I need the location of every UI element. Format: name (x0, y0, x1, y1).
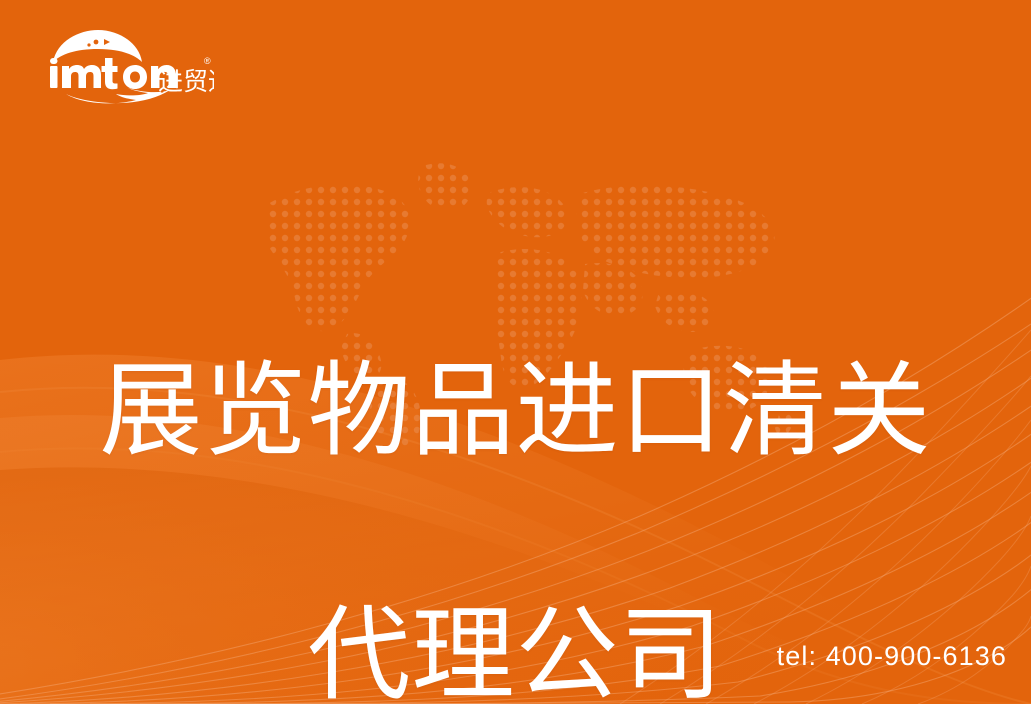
logo-chinese-name: 进贸通 (158, 67, 214, 96)
page-title: 展览物品进口清关 代理公司 (0, 228, 1031, 704)
promo-banner: 进贸通 ® 展览物品进口清关 代理公司 tel: 400-900-6136 (0, 0, 1031, 704)
swoosh-icon (66, 88, 170, 103)
imton-logo[interactable]: 进贸通 ® (36, 28, 214, 104)
contact-phone: tel: 400-900-6136 (777, 641, 1007, 672)
globe-arc-icon (53, 30, 142, 62)
logo-trademark-symbol: ® (204, 56, 211, 66)
page-title-line-1: 展览物品进口清关 (0, 350, 1031, 472)
